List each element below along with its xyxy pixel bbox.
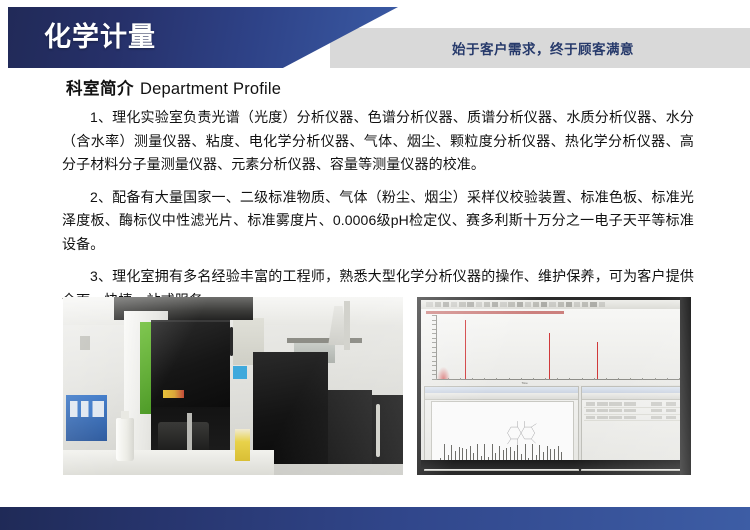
page-header: 化学计量 始于客户需求，终于顾客满意 xyxy=(0,0,750,72)
laboratory-instruments-photo xyxy=(63,297,403,475)
paragraph-2: 2、配备有大量国家一、二级标准物质、气体（粉尘、烟尘）采样仪校验装置、标准色板、… xyxy=(62,186,694,257)
header-slogan: 始于客户需求，终于顾客满意 xyxy=(452,38,634,58)
page-title: 化学计量 xyxy=(44,22,156,52)
section-title: 科室简介Department Profile xyxy=(66,78,281,100)
molecule-structure-icon xyxy=(485,416,556,450)
section-title-en: Department Profile xyxy=(140,80,281,98)
paragraph-1: 1、理化实验室负责光谱（光度）分析仪器、色谱分析仪器、质谱分析仪器、水质分析仪器… xyxy=(62,106,694,177)
chromatography-software-photo: Time xyxy=(417,297,691,475)
page-footer-bar xyxy=(0,507,750,530)
section-title-cn: 科室简介 xyxy=(66,80,134,98)
body-copy: 1、理化实验室负责光谱（光度）分析仪器、色谱分析仪器、质谱分析仪器、水质分析仪器… xyxy=(62,106,694,321)
